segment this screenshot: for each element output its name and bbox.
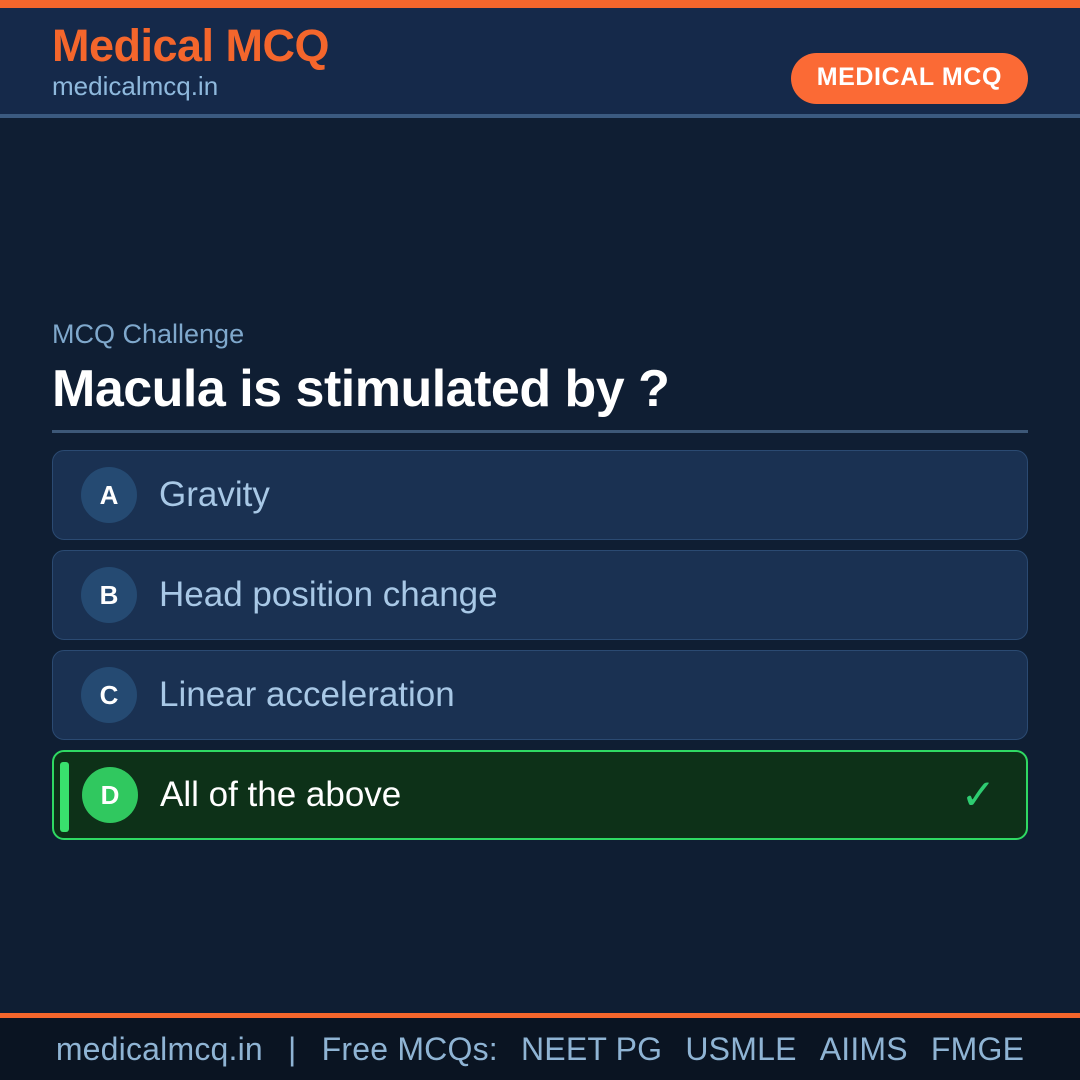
checkmark-icon: ✓	[961, 774, 996, 816]
footer-label: Free MCQs:	[322, 1031, 498, 1067]
option-text-a: Gravity	[159, 475, 270, 515]
footer-exam-aiims: AIIMS	[820, 1031, 908, 1067]
footer-site: medicalmcq.in	[56, 1031, 263, 1067]
brand-logo: Medical MCQ medicalmcq.in	[52, 22, 329, 102]
footer-exam-neetpg: NEET PG	[521, 1031, 662, 1067]
option-text-b: Head position change	[159, 575, 498, 615]
footer: medicalmcq.in | Free MCQs: NEET PG USMLE…	[0, 1013, 1080, 1080]
option-letter-b: B	[81, 567, 137, 623]
footer-exam-usmle: USMLE	[685, 1031, 796, 1067]
question-divider	[52, 430, 1028, 433]
footer-separator: |	[288, 1031, 297, 1067]
brand-title: Medical MCQ	[52, 22, 329, 69]
options-list: A Gravity B Head position change C Linea…	[52, 450, 1028, 850]
footer-text: medicalmcq.in | Free MCQs: NEET PG USMLE…	[56, 1031, 1024, 1068]
question-eyebrow: MCQ Challenge	[52, 318, 1028, 350]
option-c[interactable]: C Linear acceleration	[52, 650, 1028, 740]
option-letter-c: C	[81, 667, 137, 723]
option-a[interactable]: A Gravity	[52, 450, 1028, 540]
header-badge: MEDICAL MCQ	[791, 53, 1028, 104]
option-b[interactable]: B Head position change	[52, 550, 1028, 640]
question-text: Macula is stimulated by ?	[52, 360, 1028, 420]
option-letter-d: D	[82, 767, 138, 823]
footer-exam-fmge: FMGE	[931, 1031, 1024, 1067]
top-accent-bar	[0, 0, 1080, 8]
question-block: MCQ Challenge Macula is stimulated by ?	[52, 318, 1028, 420]
option-d[interactable]: D All of the above ✓	[52, 750, 1028, 840]
header: Medical MCQ medicalmcq.in MEDICAL MCQ	[0, 8, 1080, 118]
option-text-c: Linear acceleration	[159, 675, 455, 715]
mcq-card: Medical MCQ medicalmcq.in MEDICAL MCQ MC…	[0, 0, 1080, 1080]
brand-subtitle: medicalmcq.in	[52, 71, 329, 102]
option-text-d: All of the above	[160, 775, 401, 815]
correct-accent-bar	[60, 762, 69, 832]
option-letter-a: A	[81, 467, 137, 523]
